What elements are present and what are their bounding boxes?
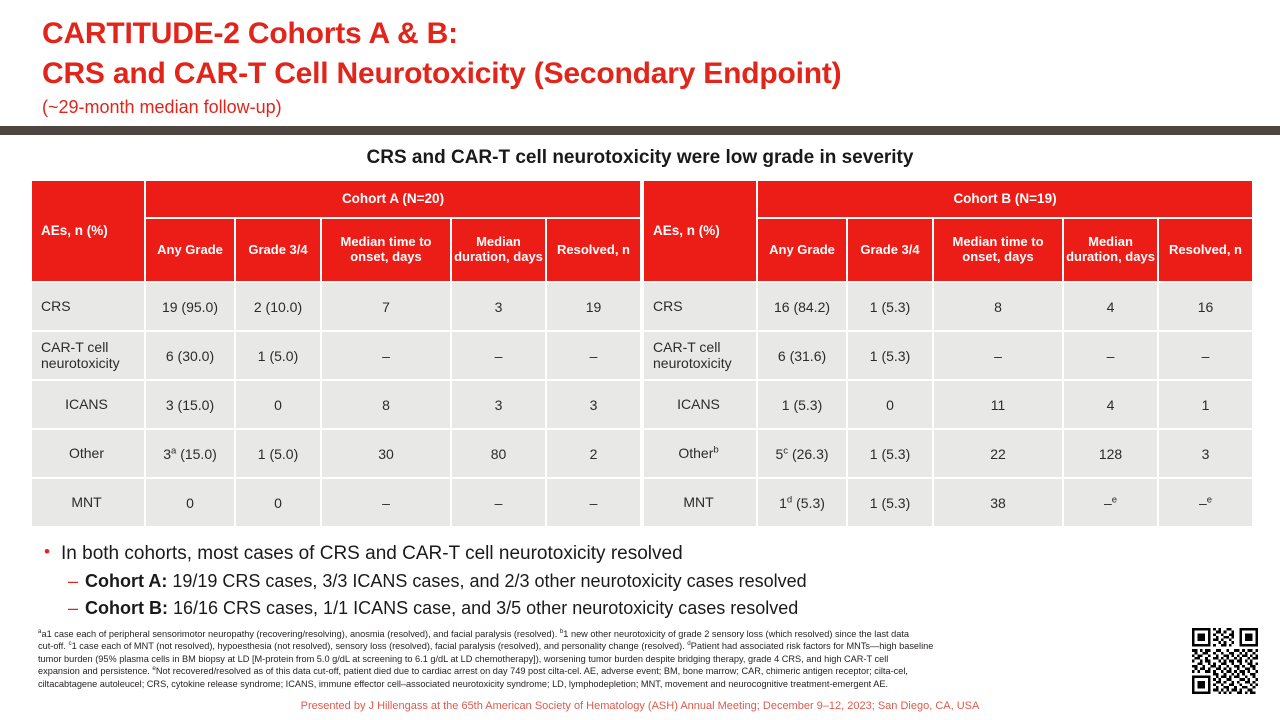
- slide-header: CARTITUDE-2 Cohorts A & B: CRS and CAR-T…: [0, 0, 1280, 119]
- row-label-icans: ICANS: [644, 381, 756, 428]
- cell-r0-c0: 19 (95.0): [146, 283, 234, 330]
- cell-r2-c2: 8: [322, 381, 450, 428]
- cell-r2-c0: 1 (5.3): [758, 381, 846, 428]
- bullet-sub-a-line: Cohort A: 19/19 CRS cases, 3/3 ICANS cas…: [85, 568, 807, 595]
- table-row: Otherb5c (26.3)1 (5.3)221283: [644, 430, 1252, 477]
- bullet-sub-a-text: 19/19 CRS cases, 3/3 ICANS cases, and 2/…: [167, 571, 806, 591]
- cell-r2-c2: 11: [934, 381, 1062, 428]
- footnote-line-1: aa1 case each of peripheral sensorimotor…: [38, 628, 1168, 640]
- tables-container: AEs, n (%) Cohort A (N=20) Any Grade Gra…: [0, 169, 1280, 528]
- cell-r3-c0: 3a (15.0): [146, 430, 234, 477]
- cell-r3-c4: 3: [1159, 430, 1252, 477]
- row-label-crs: CRS: [644, 283, 756, 330]
- cell-r3-c1: 1 (5.3): [848, 430, 932, 477]
- cell-r3-c2: 22: [934, 430, 1062, 477]
- footnote-line-1-text: a1 case each of peripheral sensorimotor …: [41, 629, 909, 639]
- row-label-other: Otherb: [644, 430, 756, 477]
- cell-r0-c2: 7: [322, 283, 450, 330]
- cell-r3-c3: 128: [1064, 430, 1157, 477]
- row-label-icans: ICANS: [32, 381, 144, 428]
- bullet-main: • In both cohorts, most cases of CRS and…: [44, 540, 1280, 568]
- bullet-main-text: In both cohorts, most cases of CRS and C…: [61, 540, 683, 568]
- header-divider-rule: [0, 126, 1280, 135]
- bullet-sub-b-line: Cohort B: 16/16 CRS cases, 1/1 ICANS cas…: [85, 595, 798, 622]
- cell-r1-c3: –: [452, 332, 545, 379]
- cell-r4-c4: –: [547, 479, 640, 526]
- table-row: Other3a (15.0)1 (5.0)30802: [32, 430, 640, 477]
- cell-r4-c1: 0: [236, 479, 320, 526]
- cell-r2-c3: 3: [452, 381, 545, 428]
- row-label-crs: CRS: [32, 283, 144, 330]
- table-header-group-row: AEs, n (%) Cohort A (N=20): [32, 181, 640, 217]
- footnote-line-3: tumor burden (95% plasma cells in BM bio…: [38, 653, 1168, 665]
- column-header-resolved: Resolved, n: [1159, 219, 1252, 281]
- cell-r0-c3: 3: [452, 283, 545, 330]
- table-row: MNT1d (5.3)1 (5.3)38–e–e: [644, 479, 1252, 526]
- cell-r0-c3: 4: [1064, 283, 1157, 330]
- cell-r4-c2: 38: [934, 479, 1062, 526]
- cell-r4-c3: –: [452, 479, 545, 526]
- column-header-grade-34: Grade 3/4: [848, 219, 932, 281]
- cell-r3-c3: 80: [452, 430, 545, 477]
- cell-r1-c1: 1 (5.3): [848, 332, 932, 379]
- cell-r4-c4: –e: [1159, 479, 1252, 526]
- cohort-b-table-body: CRS16 (84.2)1 (5.3)8416CAR-T cell neurot…: [644, 283, 1252, 526]
- table-row: ICANS1 (5.3)01141: [644, 381, 1252, 428]
- bullet-dash-icon: –: [68, 568, 85, 595]
- slide-key-message: CRS and CAR-T cell neurotoxicity were lo…: [0, 147, 1280, 169]
- column-header-median-duration: Median duration, days: [452, 219, 545, 281]
- column-header-median-time-onset: Median time to onset, days: [322, 219, 450, 281]
- footnote-line-4: expansion and persistence. eNot recovere…: [38, 665, 1168, 677]
- column-header-cohort-group: Cohort A (N=20): [146, 181, 640, 217]
- page-subtitle-followup: (~29-month median follow-up): [42, 94, 1280, 119]
- cell-r4-c3: –e: [1064, 479, 1157, 526]
- column-header-any-grade: Any Grade: [758, 219, 846, 281]
- column-header-aes: AEs, n (%): [644, 181, 756, 281]
- cell-r1-c2: –: [322, 332, 450, 379]
- table-row: MNT00–––: [32, 479, 640, 526]
- cell-r1-c3: –: [1064, 332, 1157, 379]
- bullet-list: • In both cohorts, most cases of CRS and…: [0, 528, 1280, 622]
- cell-r2-c4: 3: [547, 381, 640, 428]
- column-header-cohort-group: Cohort B (N=19): [758, 181, 1252, 217]
- cell-r0-c1: 1 (5.3): [848, 283, 932, 330]
- cell-r2-c4: 1: [1159, 381, 1252, 428]
- row-label-other: Other: [32, 430, 144, 477]
- row-label-mnt: MNT: [32, 479, 144, 526]
- cell-r2-c0: 3 (15.0): [146, 381, 234, 428]
- cell-r3-c2: 30: [322, 430, 450, 477]
- column-header-grade-34: Grade 3/4: [236, 219, 320, 281]
- cell-r2-c1: 0: [848, 381, 932, 428]
- cell-r0-c4: 16: [1159, 283, 1252, 330]
- cell-r1-c0: 6 (30.0): [146, 332, 234, 379]
- bullet-sub-b-label: Cohort B:: [85, 598, 168, 618]
- page-title-line-2: CRS and CAR-T Cell Neurotoxicity (Second…: [42, 54, 1280, 94]
- bullet-sub-a-label: Cohort A:: [85, 571, 167, 591]
- cell-r1-c4: –: [547, 332, 640, 379]
- cell-r0-c2: 8: [934, 283, 1062, 330]
- column-header-any-grade: Any Grade: [146, 219, 234, 281]
- bullet-sub-cohort-a: – Cohort A: 19/19 CRS cases, 3/3 ICANS c…: [44, 568, 1280, 595]
- bullet-sub-b-text: 16/16 CRS cases, 1/1 ICANS case, and 3/5…: [168, 598, 798, 618]
- row-label-mnt: MNT: [644, 479, 756, 526]
- footnote-line-5: ciltacabtagene autoleucel; CRS, cytokine…: [38, 678, 1168, 690]
- cell-r1-c4: –: [1159, 332, 1252, 379]
- cell-r0-c1: 2 (10.0): [236, 283, 320, 330]
- column-header-median-duration: Median duration, days: [1064, 219, 1157, 281]
- table-row: CRS16 (84.2)1 (5.3)8416: [644, 283, 1252, 330]
- cell-r4-c0: 0: [146, 479, 234, 526]
- bullet-sub-cohort-b: – Cohort B: 16/16 CRS cases, 1/1 ICANS c…: [44, 595, 1280, 622]
- presentation-attribution: Presented by J Hillengass at the 65th Am…: [0, 700, 1280, 712]
- cell-r3-c1: 1 (5.0): [236, 430, 320, 477]
- cell-r0-c4: 19: [547, 283, 640, 330]
- cell-r1-c0: 6 (31.6): [758, 332, 846, 379]
- bullet-dot-icon: •: [44, 540, 61, 565]
- row-label-car-t-cell-neurotoxicity: CAR-T cell neurotoxicity: [644, 332, 756, 379]
- column-header-median-time-onset: Median time to onset, days: [934, 219, 1062, 281]
- page-title-line-1: CARTITUDE-2 Cohorts A & B:: [42, 14, 1280, 54]
- table-row: CAR-T cell neurotoxicity6 (30.0)1 (5.0)–…: [32, 332, 640, 379]
- qr-code-icon[interactable]: [1192, 628, 1258, 694]
- column-header-aes: AEs, n (%): [32, 181, 144, 281]
- cell-r2-c1: 0: [236, 381, 320, 428]
- row-label-car-t-cell-neurotoxicity: CAR-T cell neurotoxicity: [32, 332, 144, 379]
- cell-r4-c2: –: [322, 479, 450, 526]
- table-header-group-row: AEs, n (%) Cohort B (N=19): [644, 181, 1252, 217]
- cell-r2-c3: 4: [1064, 381, 1157, 428]
- cell-r0-c0: 16 (84.2): [758, 283, 846, 330]
- cohort-a-table-body: CRS19 (95.0)2 (10.0)7319CAR-T cell neuro…: [32, 283, 640, 526]
- table-row: CAR-T cell neurotoxicity6 (31.6)1 (5.3)–…: [644, 332, 1252, 379]
- cell-r1-c2: –: [934, 332, 1062, 379]
- table-row: ICANS3 (15.0)0833: [32, 381, 640, 428]
- cell-r1-c1: 1 (5.0): [236, 332, 320, 379]
- footnotes-block: aa1 case each of peripheral sensorimotor…: [38, 628, 1168, 690]
- cell-r4-c0: 1d (5.3): [758, 479, 846, 526]
- table-row: CRS19 (95.0)2 (10.0)7319: [32, 283, 640, 330]
- cell-r3-c4: 2: [547, 430, 640, 477]
- footnote-line-2: cut-off. c1 case each of MNT (not resolv…: [38, 640, 1168, 652]
- cohort-b-table: AEs, n (%) Cohort B (N=19) Any Grade Gra…: [642, 179, 1254, 528]
- cohort-a-table: AEs, n (%) Cohort A (N=20) Any Grade Gra…: [30, 179, 642, 528]
- cell-r4-c1: 1 (5.3): [848, 479, 932, 526]
- qr-code-svg: [1192, 628, 1258, 694]
- column-header-resolved: Resolved, n: [547, 219, 640, 281]
- bullet-dash-icon: –: [68, 595, 85, 622]
- cell-r3-c0: 5c (26.3): [758, 430, 846, 477]
